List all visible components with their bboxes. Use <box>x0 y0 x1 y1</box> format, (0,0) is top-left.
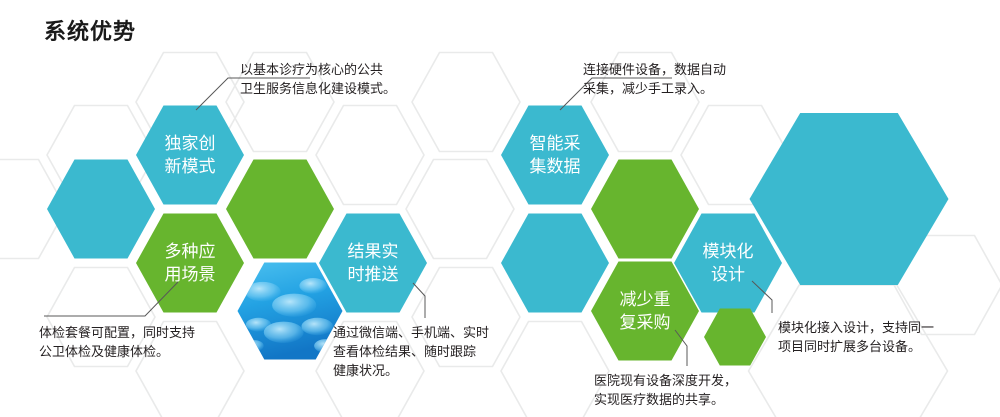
note-reduce-repurchase: 医院现有设备深度开发， 实现医疗数据的共享。 <box>594 371 809 409</box>
hex-multi-scenario[interactable] <box>136 214 244 313</box>
hex-plain-teal-left <box>47 160 155 259</box>
outline-hex-8 <box>406 160 514 259</box>
note-realtime-push: 通过微信端、手机端、实时 查看体检结果、随时跟踪 健康状况。 <box>333 323 548 380</box>
note-multi-scenario: 体检套餐可配置，同时支持 公卫体检及健康体检。 <box>39 323 259 361</box>
hex-smart-collect[interactable] <box>501 106 609 205</box>
note-exclusive-innovation: 以基本诊疗为核心的公共 卫生服务信息化建设模式。 <box>240 60 450 98</box>
hex-exclusive-innovation[interactable] <box>136 106 244 205</box>
hex-realtime-push[interactable] <box>319 214 427 313</box>
page-title: 系统优势 <box>44 14 136 46</box>
note-smart-collect: 连接硬件设备，数据自动 采集，减少手工录入。 <box>583 60 793 98</box>
hex-plain-teal-right <box>501 214 609 313</box>
outline-hex-7 <box>316 106 424 205</box>
hex-plain-green-mid <box>226 160 334 259</box>
note-modular-design: 模块化接入设计，支持同一 项目同时扩展多台设备。 <box>778 318 1000 356</box>
hex-plain-green-right <box>591 160 699 259</box>
infographic-canvas: 系统优势 独家创 新模式多种应 用场景结果实 时推送智能采 集数据减少重 复采购… <box>0 0 1000 417</box>
